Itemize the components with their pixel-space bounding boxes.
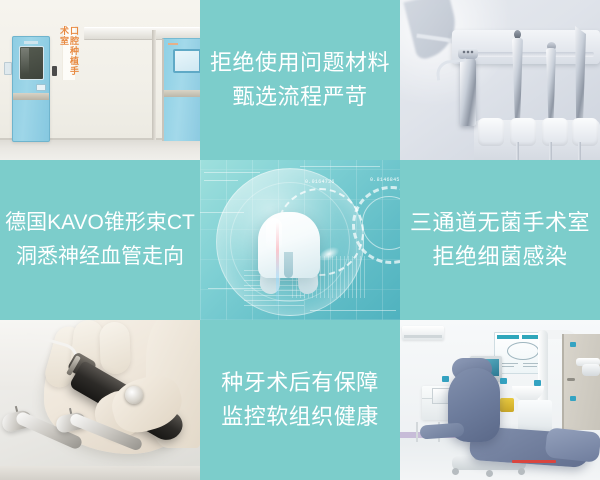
air-conditioner <box>402 326 444 340</box>
hud-line <box>204 180 238 181</box>
wall-sign <box>570 342 576 347</box>
text-tile-sterile-room[interactable]: 三通道无菌手术室 拒绝细菌感染 <box>400 160 600 320</box>
tile-line-2: 洞悉神经血管走向 <box>16 240 184 274</box>
door-jamb <box>152 30 156 140</box>
gloved-hand-handpiece-photo[interactable] <box>0 320 200 480</box>
door-kick-plate <box>13 93 49 100</box>
sharps-bin <box>500 398 514 412</box>
hud-value-1: 0.0164726 <box>305 179 335 185</box>
wall-sign <box>534 380 541 386</box>
poster-text-line <box>523 366 537 367</box>
tool-stem <box>549 142 552 160</box>
card-reader <box>52 66 57 76</box>
hud-value-2: 0.8146845 <box>370 177 400 183</box>
sliding-door-label <box>168 43 178 45</box>
poster-header-band <box>497 335 519 339</box>
dental-operatory-photo[interactable] <box>400 320 600 480</box>
sliding-door <box>162 38 200 141</box>
door-handle <box>567 378 575 381</box>
tool-holder <box>542 118 568 146</box>
dental-probe <box>512 38 523 126</box>
hud-line <box>204 172 260 173</box>
tool-holder <box>478 118 504 146</box>
tile-line-1: 种牙术后有保障 <box>221 366 379 400</box>
door-handle <box>36 84 46 91</box>
tool-holder <box>572 118 598 146</box>
tool-stem <box>516 142 519 160</box>
doctor-stool <box>412 404 440 424</box>
clinic-corridor-photo[interactable]: 口腔种植手术室 <box>0 0 200 160</box>
caster-wheel <box>486 470 493 477</box>
dental-scaler <box>546 48 556 126</box>
text-tile-cbct[interactable]: 德国KAVO锥形束CT 洞悉神经血管走向 <box>0 160 200 320</box>
door-label-strip <box>24 41 38 44</box>
wall-sign <box>570 396 576 401</box>
text-tile-materials[interactable]: 拒绝使用问题材料 甄选流程严苛 <box>200 0 400 160</box>
tile-line-2: 拒绝细菌感染 <box>432 240 567 274</box>
hinged-door <box>12 36 50 142</box>
room-door <box>562 334 600 430</box>
wall-control-panel <box>4 62 12 75</box>
room-sign: 口腔种植手术室 <box>62 26 75 80</box>
hud-line <box>310 310 396 311</box>
tile-line-1: 三通道无菌手术室 <box>410 206 590 240</box>
sliding-door-window <box>173 49 200 73</box>
dental-instruments-photo[interactable] <box>400 0 600 160</box>
hud-line <box>300 166 380 167</box>
tile-line-1: 拒绝使用问题材料 <box>210 46 390 80</box>
prism-flare <box>276 222 279 308</box>
room-sign-text: 口腔种植手术室 <box>59 26 79 80</box>
chair-legrest <box>545 427 600 462</box>
corridor-floor <box>0 140 200 160</box>
sliding-door-kick-plate <box>164 90 200 97</box>
text-tile-aftercare[interactable]: 种牙术后有保障 监控软组织健康 <box>200 320 400 480</box>
tool-holder <box>510 118 536 146</box>
tray-edge <box>0 466 200 480</box>
tile-line-1: 德国KAVO锥形束CT <box>5 206 195 240</box>
tool-stem <box>578 142 581 160</box>
door-window-glint <box>21 48 29 74</box>
probe-tip <box>514 30 521 39</box>
tooth-highlight <box>266 218 282 252</box>
tile-line-2: 监控软组织健康 <box>221 400 379 434</box>
tooth-hologram-photo[interactable]: 0.0164726 0.8146845 <box>200 160 400 320</box>
wall-sign <box>500 378 507 384</box>
floor-red-marker <box>512 460 556 463</box>
tile-line-2: 甄选流程严苛 <box>232 80 367 114</box>
finger <box>99 321 131 374</box>
handpiece-button <box>125 386 143 404</box>
caster-wheel <box>452 468 459 475</box>
poster-arch-graphic <box>507 342 539 360</box>
caster-wheel <box>518 468 525 475</box>
wall-sign <box>442 376 449 382</box>
feature-grid: 口腔种植手术室 拒绝使用问题材料 甄选流程严苛 <box>0 0 600 480</box>
syringe-buttons <box>462 50 474 54</box>
operating-light <box>582 364 600 376</box>
